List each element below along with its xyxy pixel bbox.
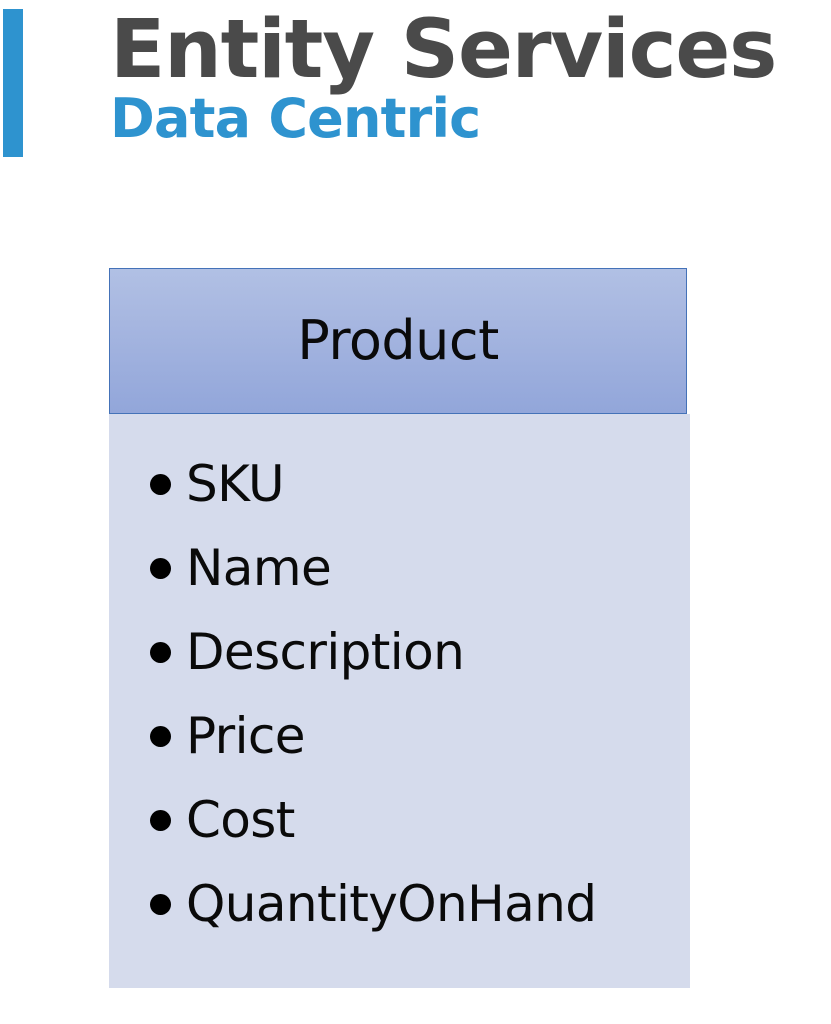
attribute-label: Name xyxy=(186,543,331,593)
accent-bar xyxy=(3,9,23,157)
attribute-label: Price xyxy=(186,711,305,761)
page-title: Entity Services xyxy=(110,0,825,91)
entity-attribute-list: SKU Name Description Price Cost Quantity xyxy=(109,414,690,988)
bullet-icon xyxy=(150,558,171,579)
brand-text-group: Entity Services Data Centric xyxy=(110,0,825,146)
brand-header: Entity Services Data Centric xyxy=(0,0,831,170)
attribute-label: Cost xyxy=(186,795,295,845)
list-item: SKU xyxy=(109,442,690,526)
list-item: Price xyxy=(109,694,690,778)
list-item: Description xyxy=(109,610,690,694)
list-item: Cost xyxy=(109,778,690,862)
attribute-label: SKU xyxy=(186,459,284,509)
attribute-label: QuantityOnHand xyxy=(186,879,596,929)
slide-canvas: Entity Services Data Centric Product SKU… xyxy=(0,0,831,1024)
bullet-icon xyxy=(150,726,171,747)
entity-card-title: Product xyxy=(297,314,499,368)
bullet-icon xyxy=(150,642,171,663)
attribute-label: Description xyxy=(186,627,464,677)
bullet-icon xyxy=(150,474,171,495)
entity-card-header: Product xyxy=(109,268,687,414)
entity-card-product: Product SKU Name Description Price C xyxy=(109,268,690,988)
bullet-icon xyxy=(150,894,171,915)
page-subtitle: Data Centric xyxy=(110,92,825,146)
list-item: QuantityOnHand xyxy=(109,862,690,946)
list-item: Name xyxy=(109,526,690,610)
bullet-icon xyxy=(150,810,171,831)
